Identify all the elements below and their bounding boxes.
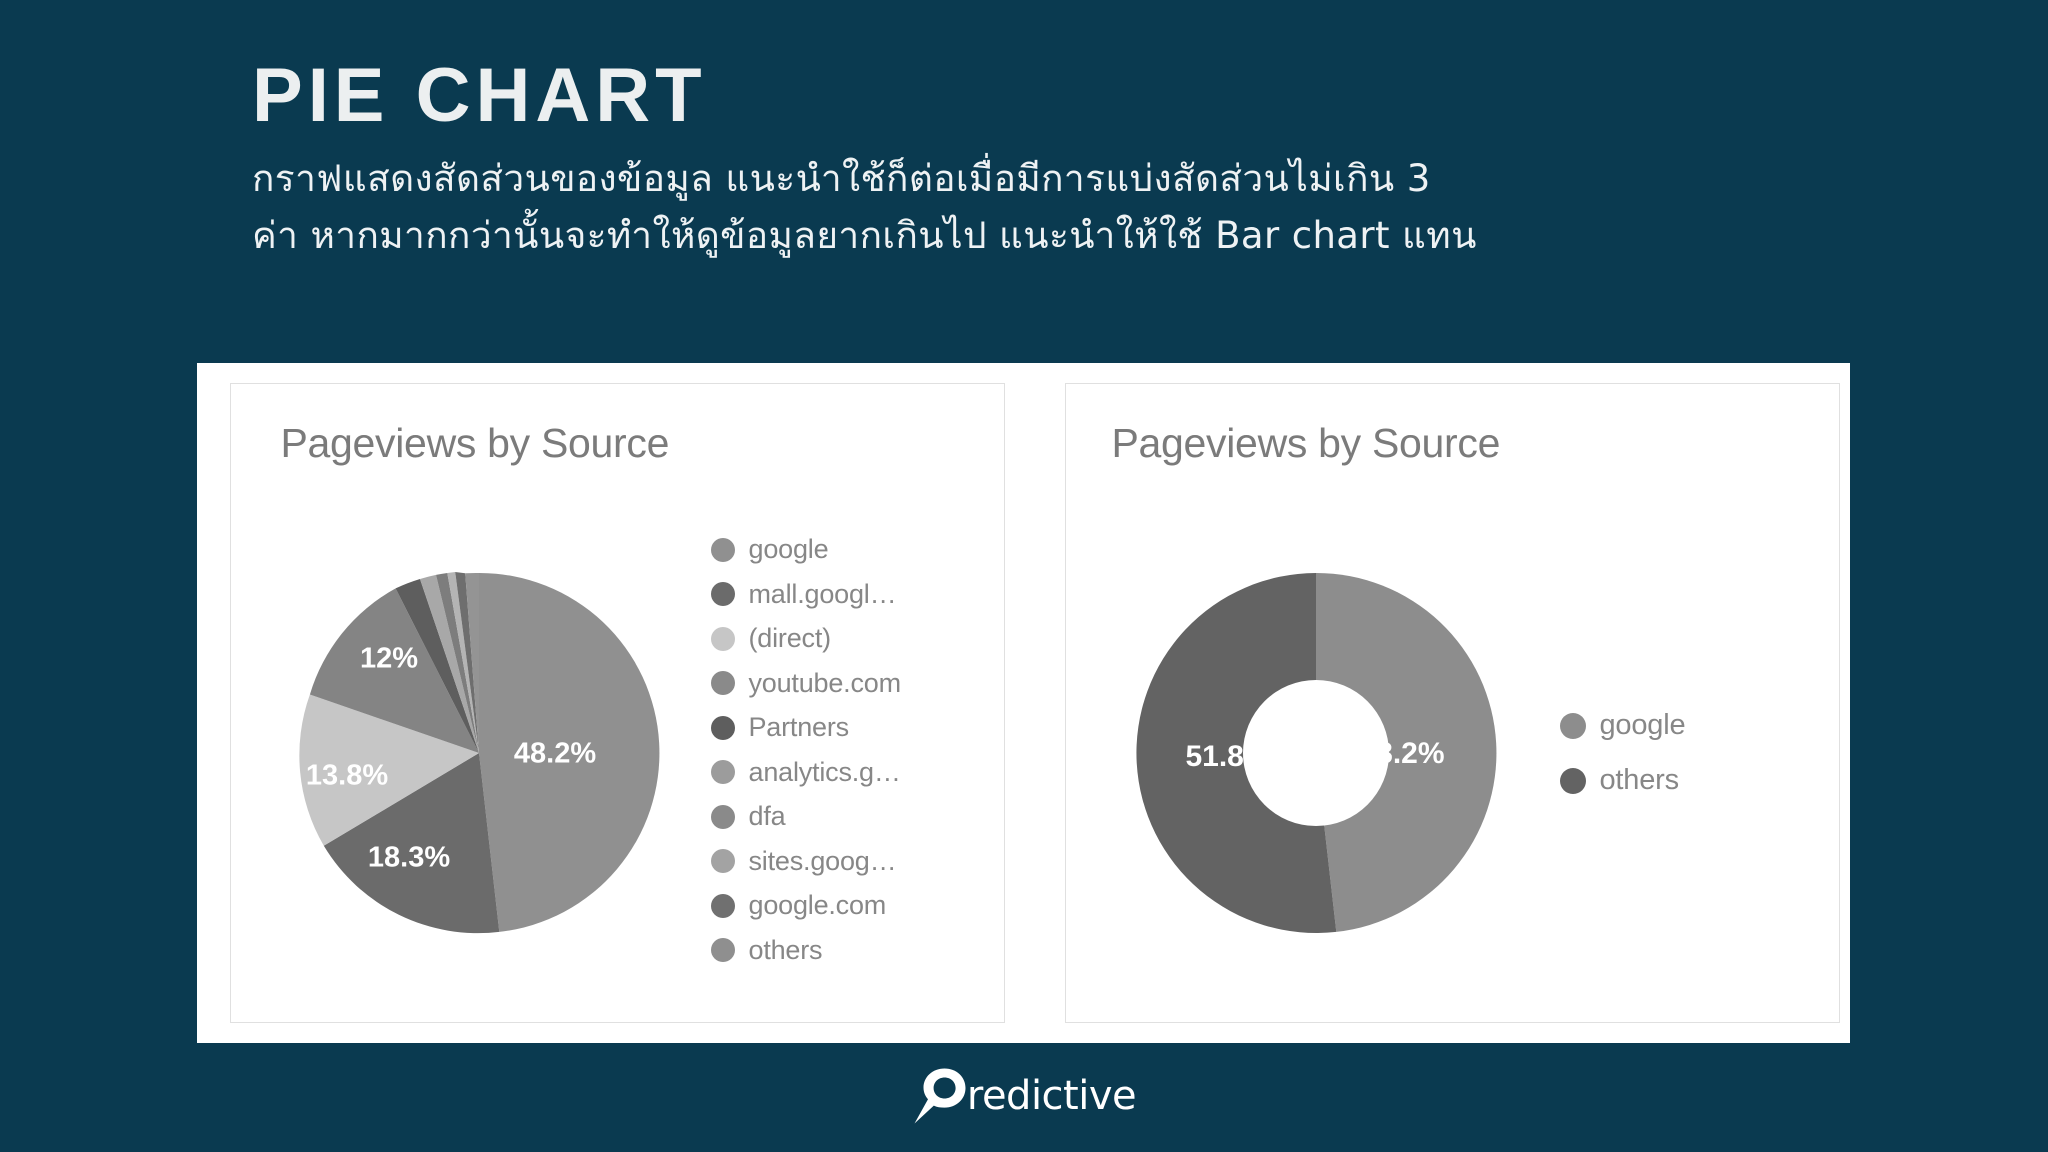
legend-swatch-icon (711, 538, 735, 562)
donut-chart-legend: google others (1560, 709, 1686, 797)
legend-item-google[interactable]: google (1560, 709, 1686, 742)
legend-item-mall-google[interactable]: mall.googl… (711, 579, 901, 610)
donut-chart-card: Pageviews by Source 48.2% 51.8% google (1065, 383, 1840, 1023)
legend-item-direct[interactable]: (direct) (711, 623, 901, 654)
legend-label: sites.goog… (749, 846, 897, 877)
pie-value-label-google: 48.2% (513, 738, 595, 770)
legend-swatch-icon (711, 805, 735, 829)
pie-value-label-mall: 18.3% (367, 842, 449, 874)
donut-svg: 48.2% 51.8% (1106, 543, 1526, 963)
legend-swatch-icon (711, 582, 735, 606)
pie-chart-title: Pageviews by Source (281, 420, 670, 467)
pie-value-label-direct: 13.8% (305, 760, 387, 792)
legend-item-sites-google[interactable]: sites.goog… (711, 846, 901, 877)
pie-svg: 48.2% 18.3% 13.8% 12% (269, 543, 689, 963)
legend-item-others[interactable]: others (711, 935, 901, 966)
subtitle-line-2: ค่า หากมากกว่านั้นจะทำให้ดูข้อมูลยากเกิน… (252, 207, 1772, 264)
footer-logo: redictive (0, 1065, 2048, 1127)
donut-value-label-google: 48.2% (1359, 737, 1444, 770)
pie-chart-graphic: 48.2% 18.3% 13.8% 12% (269, 543, 689, 963)
legend-swatch-icon (711, 894, 735, 918)
legend-label: google (749, 534, 829, 565)
logo-wordmark: redictive (967, 1076, 1136, 1116)
legend-item-partners[interactable]: Partners (711, 712, 901, 743)
legend-label: google (1600, 709, 1686, 742)
legend-swatch-icon (711, 760, 735, 784)
legend-swatch-icon (1560, 768, 1586, 794)
subtitle-line-1: กราฟแสดงสัดส่วนของข้อมูล แนะนำใช้ก็ต่อเม… (252, 150, 1772, 207)
legend-item-dfa[interactable]: dfa (711, 801, 901, 832)
slide-subtitle: กราฟแสดงสัดส่วนของข้อมูล แนะนำใช้ก็ต่อเม… (252, 150, 1772, 265)
legend-item-analytics[interactable]: analytics.g… (711, 757, 901, 788)
legend-label: google.com (749, 890, 887, 921)
donut-chart-graphic: 48.2% 51.8% (1106, 543, 1526, 963)
legend-label: mall.googl… (749, 579, 897, 610)
legend-item-google[interactable]: google (711, 534, 901, 565)
legend-swatch-icon (711, 849, 735, 873)
legend-item-youtube[interactable]: youtube.com (711, 668, 901, 699)
pie-chart-card: Pageviews by Source (230, 383, 1005, 1023)
legend-swatch-icon (711, 716, 735, 740)
legend-label: others (1600, 764, 1679, 797)
legend-item-google-com[interactable]: google.com (711, 890, 901, 921)
legend-item-others[interactable]: others (1560, 764, 1686, 797)
donut-chart-title: Pageviews by Source (1112, 420, 1501, 467)
donut-chart-body: 48.2% 51.8% google others (1066, 484, 1839, 1022)
legend-label: analytics.g… (749, 757, 901, 788)
pie-chart-legend: google mall.googl… (direct) youtube.com … (711, 534, 901, 966)
legend-label: Partners (749, 712, 849, 743)
legend-label: dfa (749, 801, 786, 832)
legend-swatch-icon (711, 671, 735, 695)
legend-swatch-icon (1560, 713, 1586, 739)
legend-label: others (749, 935, 823, 966)
predictive-p-icon (912, 1065, 968, 1127)
pie-chart-body: 48.2% 18.3% 13.8% 12% google mall.googl… (231, 484, 1004, 1022)
legend-label: youtube.com (749, 668, 901, 699)
legend-swatch-icon (711, 627, 735, 651)
pie-value-label-youtube: 12% (359, 643, 417, 675)
legend-label: (direct) (749, 623, 831, 654)
page-title: PIE CHART (252, 58, 1812, 134)
legend-swatch-icon (711, 938, 735, 962)
slide-header: PIE CHART กราฟแสดงสัดส่วนของข้อมูล แนะนำ… (252, 58, 1812, 265)
donut-value-label-others: 51.8% (1185, 740, 1270, 773)
charts-panel: Pageviews by Source (197, 363, 1850, 1043)
